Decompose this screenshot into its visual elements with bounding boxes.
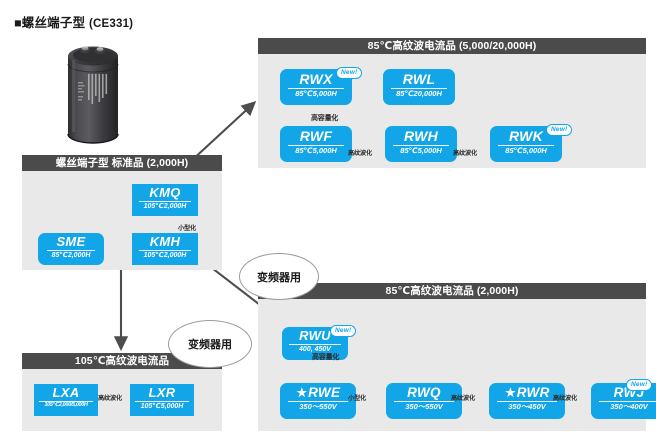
arrow-label-rwe-rwu: 高容量化 [312, 352, 339, 362]
part-sub-kmq: 105℃2,000H [132, 203, 198, 210]
part-name-kmq: KMQ [132, 186, 198, 200]
arrow-label-rwf-rwx: 高容量化 [311, 113, 338, 123]
panel-ripple85-5k20k-heading: 85℃高纹波电流品 (5,000/20,000H) [258, 38, 646, 54]
part-sub-rwe: 350〜550V [280, 403, 356, 411]
part-box-kmq[interactable]: KMQ 105℃2,000H [132, 184, 198, 216]
part-name-rwh: RWH [385, 128, 457, 144]
panel-ripple105-body: LXA 105℃2,000/5,000H LXR 105℃5,000H [22, 369, 222, 431]
part-box-rwe[interactable]: ★RWE 350〜550V [280, 383, 356, 419]
title-bullet: ■ [14, 16, 22, 30]
part-sub-sme: 85℃2,000H [38, 252, 104, 259]
arrow-label-rwf-rwh: 高纹波化 [348, 148, 372, 157]
part-box-rwl[interactable]: RWL 85℃20,000H [383, 69, 455, 105]
part-box-rwf[interactable]: RWF 85℃5,000H [280, 126, 352, 162]
part-sub-rwf: 85℃5,000H [280, 147, 352, 155]
title-code: (CE331) [89, 18, 133, 30]
part-sub-rwj: 350〜400V [591, 403, 656, 411]
part-name-sme: SME [38, 235, 104, 249]
part-sub-lxa: 105℃2,000/5,000H [34, 403, 98, 409]
callout-inverter-lower: 变频器用 [168, 320, 252, 368]
arrow-label-rwe-rwq: 小型化 [348, 393, 366, 402]
part-sub-rwq: 350〜550V [386, 403, 462, 411]
new-badge-rwk: New! [546, 124, 572, 136]
part-sub-lxr: 105℃5,000H [130, 403, 194, 410]
panel-standard: 螺丝端子型 标准品 (2,000H) SME 85℃2,000H KMQ 105… [22, 155, 222, 270]
arrow-label-rwh-rwk: 高纹波化 [453, 148, 477, 157]
panel-standard-heading: 螺丝端子型 标准品 (2,000H) [22, 155, 222, 171]
arrow-label-kmh-kmq: 小型化 [178, 223, 196, 232]
part-box-lxa[interactable]: LXA 105℃2,000/5,000H [34, 384, 98, 416]
callout-inverter-upper: 变频器用 [239, 253, 319, 300]
callout-inverter-lower-label: 变频器用 [188, 336, 232, 352]
part-sub-kmh: 105℃2,000H [132, 252, 198, 259]
part-sub-rwl: 85℃20,000H [383, 90, 455, 98]
arrow-standard-to-ripple85-5k [190, 103, 254, 162]
panel-ripple85-2k-heading: 85℃高纹波电流品 (2,000H) [258, 283, 646, 299]
arrow-label-lxa-lxr: 高纹波化 [98, 393, 122, 402]
new-badge-rwx: New! [336, 67, 362, 79]
part-sub-rwr: 350〜450V [489, 403, 565, 411]
arrow-label-rwq-rwr: 高纹波化 [451, 393, 475, 402]
panel-ripple85-5k20k-body: RWX 85℃5,000H New! RWL 85℃20,000H RWF 85… [258, 54, 646, 168]
part-box-lxr[interactable]: LXR 105℃5,000H [130, 384, 194, 416]
panel-standard-body: SME 85℃2,000H KMQ 105℃2,000H KMH 105℃2,0… [22, 171, 222, 270]
part-sub-rwx: 85℃5,000H [280, 90, 352, 98]
part-name-rwe: ★RWE [280, 385, 356, 400]
new-badge-rwj: New! [626, 379, 652, 391]
callout-inverter-upper-label: 变频器用 [257, 269, 301, 285]
panel-ripple85-5k20k: 85℃高纹波电流品 (5,000/20,000H) RWX 85℃5,000H … [258, 38, 646, 168]
part-name-kmh: KMH [132, 235, 198, 249]
part-box-rwh[interactable]: RWH 85℃5,000H [385, 126, 457, 162]
part-box-kmh[interactable]: KMH 105℃2,000H [132, 233, 198, 265]
screw-terminal-capacitor-photo [58, 34, 128, 152]
diagram-canvas: ■螺丝端子型 (CE331) [0, 0, 656, 442]
panel-ripple85-2k-body: RWU 400, 450V New! ★RWE 350〜550V RWQ 350… [258, 299, 646, 431]
part-box-sme[interactable]: SME 85℃2,000H [38, 233, 104, 265]
part-name-lxa: LXA [34, 386, 98, 400]
page-title: ■螺丝端子型 (CE331) [14, 12, 133, 31]
title-text: 螺丝端子型 [22, 16, 86, 30]
part-name-lxr: LXR [130, 386, 194, 400]
part-sub-rwh: 85℃5,000H [385, 147, 457, 155]
part-name-rwl: RWL [383, 71, 455, 87]
part-name-rwf: RWF [280, 128, 352, 144]
part-sub-rwk: 85℃5,000H [490, 147, 562, 155]
arrow-label-rwr-rwj: 高纹波化 [553, 393, 577, 402]
new-badge-rwu: New! [330, 325, 356, 337]
